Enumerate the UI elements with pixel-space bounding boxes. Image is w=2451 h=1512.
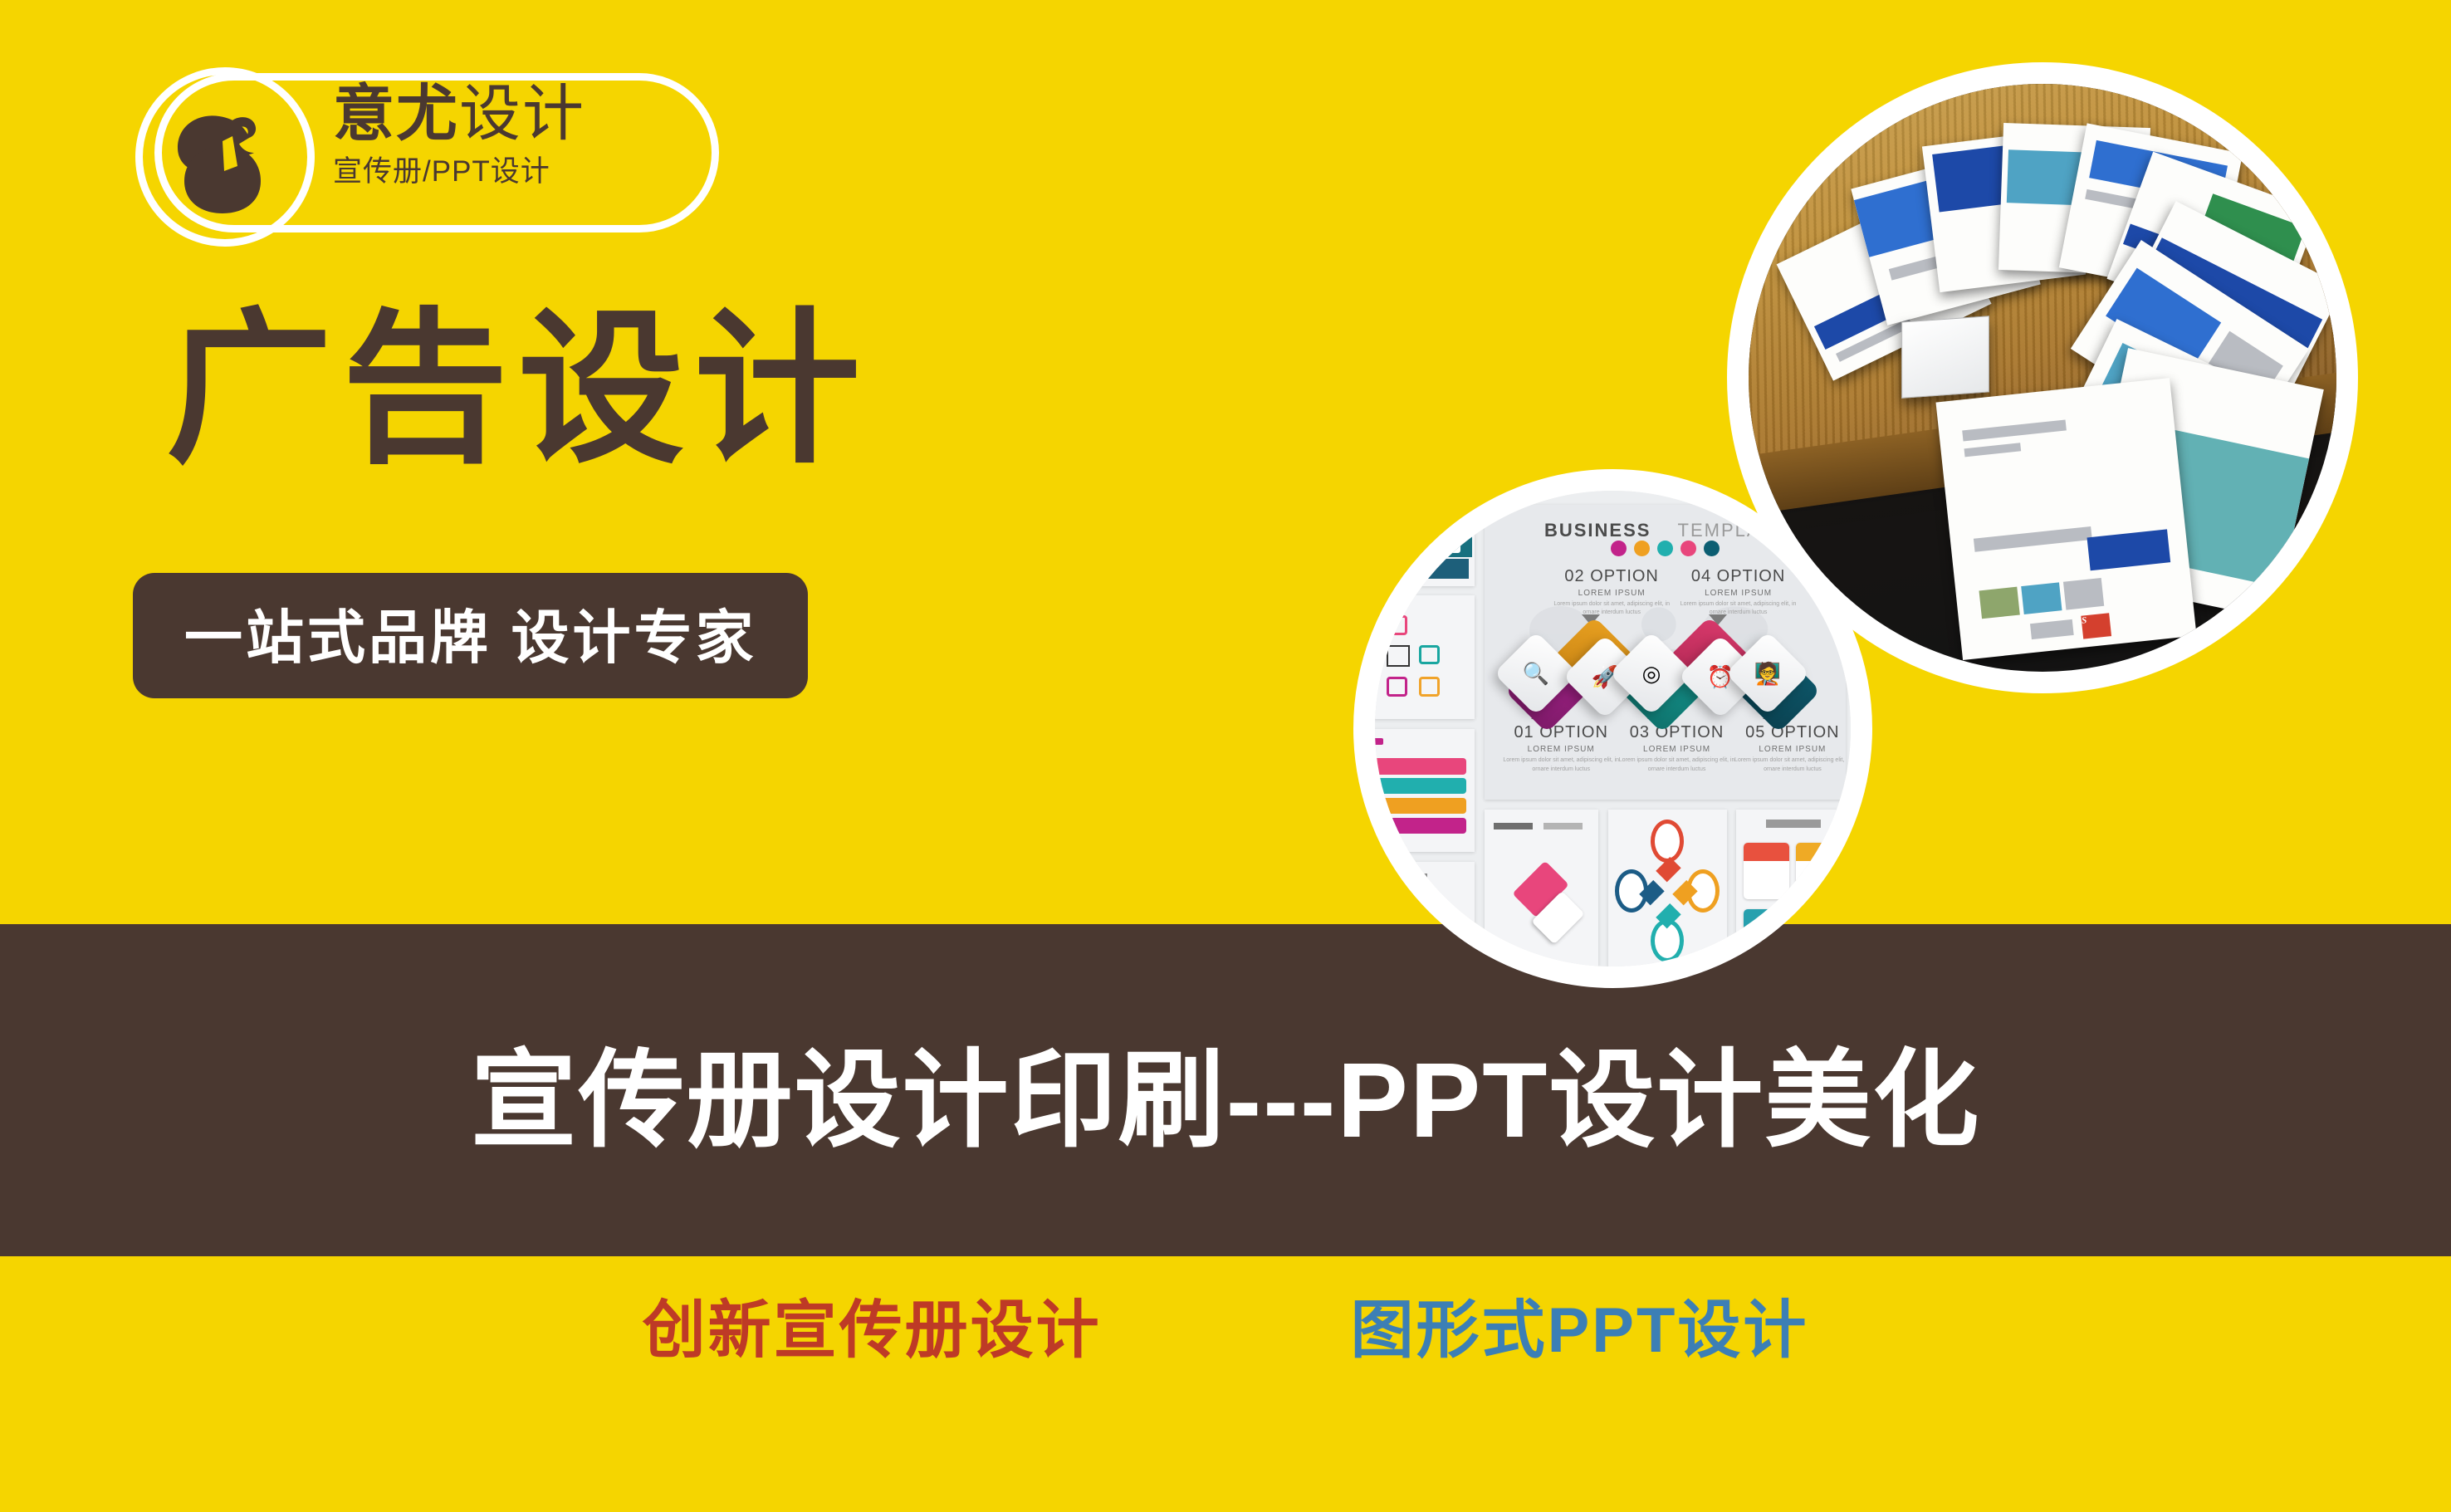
rocket-icon: 🚀	[1575, 647, 1635, 707]
brochure-sheet	[2071, 240, 2309, 458]
brand-logo-badge[interactable]: 意尤设计 宣传册/PPT设计	[154, 73, 719, 232]
diamond-03: ◎	[1609, 631, 1694, 716]
presenter-icon: 🧑‍🏫	[1738, 643, 1798, 703]
world-map-background	[1506, 582, 1824, 724]
page-headline: 广告设计	[166, 307, 870, 473]
option-label: LOREM IPSUM	[1676, 589, 1801, 598]
target-icon: ◎	[1622, 643, 1681, 703]
pointer-up-icon	[1647, 708, 1666, 719]
main-service-banner-text: 宣传册设计印刷---PPT设计美化	[471, 1014, 1981, 1167]
option-body: Lorem ipsum dolor sit amet, adipiscing e…	[1676, 600, 1801, 618]
option-label: LOREM IPSUM	[1499, 745, 1623, 754]
option-label: LOREM IPSUM	[1549, 589, 1674, 598]
magnifier-icon: 🔍	[1506, 643, 1566, 703]
logo-text-block: 意尤设计 宣传册/PPT设计	[333, 82, 585, 190]
slide-title-bold: BUSINESS	[1544, 520, 1651, 541]
mini-slide-pyramid	[1353, 729, 1475, 853]
diamond-04: ⏰	[1678, 634, 1763, 719]
option-number: 02 OPTION	[1549, 567, 1674, 586]
option-label-03: 03 OPTION LOREM IPSUM Lorem ipsum dolor …	[1615, 723, 1739, 774]
option-label-01: 01 OPTION LOREM IPSUM Lorem ipsum dolor …	[1499, 723, 1623, 774]
ppt-collage-content: BUSINESS TEMPLATE 02 OPTION LOREM IPSUM …	[1375, 491, 1851, 966]
pointer-up-icon	[1531, 708, 1549, 719]
printed-brochures-photo-circle: S	[1727, 62, 2358, 693]
brochure-sheet	[2107, 152, 2319, 340]
diamond-shadow-04	[1667, 616, 1752, 701]
wooden-table-surface	[1727, 62, 2358, 487]
bottom-captions: 创新宣传册设计 图形式PPT设计	[0, 1279, 2451, 1370]
pointer-down-icon	[1582, 614, 1600, 625]
diamond-shadow-05	[1736, 649, 1821, 734]
brochure-sheet	[2059, 123, 2243, 297]
logo-name-bold: 意尤	[333, 79, 459, 148]
caption-ppt-design: 图形式PPT设计	[1351, 1279, 1809, 1370]
brochure-sheet	[1776, 187, 1991, 380]
mini-slide-square-matrix	[1353, 595, 1475, 719]
option-label: LOREM IPSUM	[1730, 745, 1846, 754]
bird-seed-mark-icon	[163, 95, 287, 219]
brochure-sheet	[2079, 348, 2323, 619]
brochure-sheet	[2058, 319, 2292, 526]
diamond-shadow-02	[1552, 616, 1636, 701]
option-body: Lorem ipsum dolor sit amet, adipiscing e…	[1615, 756, 1739, 774]
option-label-02: 02 OPTION LOREM IPSUM Lorem ipsum dolor …	[1549, 567, 1674, 618]
logo-name-light: 设计	[459, 79, 585, 148]
option-label-05: 05 OPTION LOREM IPSUM Lorem ipsum dolor …	[1730, 723, 1846, 774]
caption-brochure-design: 创新宣传册设计	[643, 1279, 1102, 1370]
option-label: LOREM IPSUM	[1615, 745, 1739, 754]
option-number: 01 OPTION	[1499, 723, 1623, 742]
logo-subtitle: 宣传册/PPT设计	[333, 148, 585, 190]
option-number: 03 OPTION	[1615, 723, 1739, 742]
mini-slide-home-target	[1353, 500, 1475, 585]
brochure-sheet	[2117, 201, 2344, 402]
slide-title-light: TEMPLATE	[1678, 520, 1787, 541]
diamond-02: 🚀	[1563, 634, 1647, 719]
option-number: 05 OPTION	[1730, 723, 1846, 742]
alarm-clock-icon: ⏰	[1690, 647, 1750, 707]
diamond-shadow-03	[1620, 649, 1705, 734]
pointer-down-icon	[1709, 614, 1727, 625]
brochure-sheet	[1851, 148, 2041, 325]
slide-title: BUSINESS TEMPLATE	[1485, 520, 1846, 541]
pointer-up-icon	[1763, 708, 1781, 719]
option-body: Lorem ipsum dolor sit amet, adipiscing e…	[1499, 756, 1623, 774]
open-brochure-cover: S	[1935, 378, 2196, 659]
logo-mark-ring	[135, 67, 315, 247]
advertisement-banner: S	[0, 0, 2451, 1512]
logo-name: 意尤设计	[333, 82, 585, 146]
ppt-template-collage-circle: BUSINESS TEMPLATE 02 OPTION LOREM IPSUM …	[1353, 469, 1872, 988]
photo-content: S	[1749, 84, 2336, 672]
brochure-sheet	[1922, 129, 2086, 292]
option-body: Lorem ipsum dolor sit amet, adipiscing e…	[1730, 756, 1846, 774]
diamond-shadow-01	[1504, 649, 1589, 734]
dark-floor	[1749, 84, 2336, 672]
brochure-sheet	[1998, 123, 2150, 275]
title-dots	[1485, 541, 1846, 556]
tagline-pill: 一站式品牌 设计专家	[133, 573, 808, 698]
main-service-banner: 宣传册设计印刷---PPT设计美化	[0, 924, 2451, 1256]
acrylic-card-holder	[1901, 316, 1989, 399]
option-label-04: 04 OPTION LOREM IPSUM Lorem ipsum dolor …	[1676, 567, 1801, 618]
diamond-05: 🧑‍🏫	[1725, 631, 1810, 716]
diamond-01: 🔍	[1494, 631, 1578, 716]
table-edge	[1727, 361, 2358, 524]
main-ppt-slide: BUSINESS TEMPLATE 02 OPTION LOREM IPSUM …	[1485, 505, 1846, 800]
option-body: Lorem ipsum dolor sit amet, adipiscing e…	[1549, 600, 1674, 618]
option-number: 04 OPTION	[1676, 567, 1801, 586]
